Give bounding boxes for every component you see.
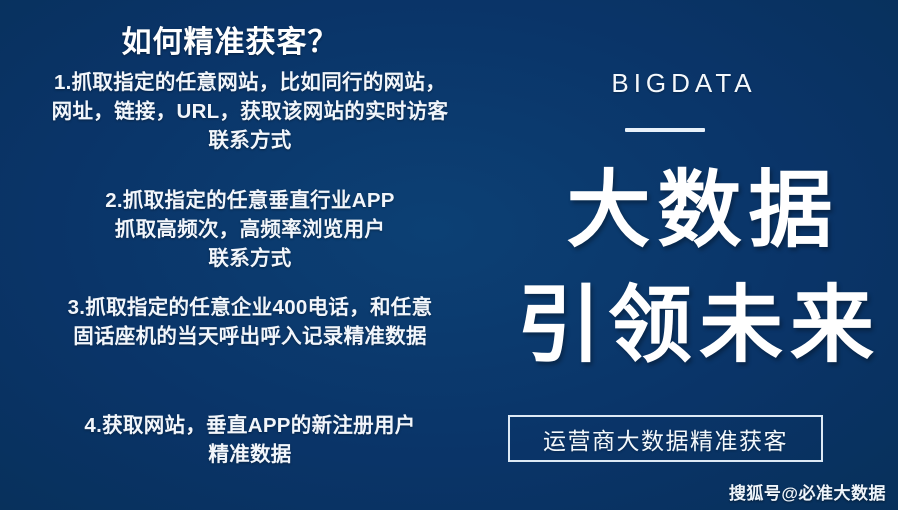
bullet-4-line-2: 精准数据 (0, 440, 500, 469)
bullet-item-4: 4.获取网站，垂直APP的新注册用户 精准数据 (0, 411, 500, 469)
brand-headline-line-2: 引领未来 (500, 283, 898, 367)
poster-canvas: 如何精准获客？ 1.抓取指定的任意网站，比如同行的网站， 网址，链接，URL，获… (0, 0, 898, 510)
bullet-item-2: 2.抓取指定的任意垂直行业APP 抓取高频次，高频率浏览用户 联系方式 (0, 186, 500, 273)
bullet-item-3: 3.抓取指定的任意企业400电话，和任意 固话座机的当天呼出呼入记录精准数据 (0, 293, 500, 351)
tagline-text: 运营商大数据精准获客 (543, 422, 788, 456)
bullet-2-line-1: 2.抓取指定的任意垂直行业APP (0, 186, 500, 215)
left-content-column: 如何精准获客？ 1.抓取指定的任意网站，比如同行的网站， 网址，链接，URL，获… (0, 0, 500, 510)
bullet-1-line-3: 联系方式 (0, 126, 500, 155)
bullet-3-line-1: 3.抓取指定的任意企业400电话，和任意 (0, 293, 500, 322)
page-title: 如何精准获客？ (0, 17, 460, 61)
bullet-2-line-2: 抓取高频次，高频率浏览用户 (0, 215, 500, 244)
bullet-1-line-1: 1.抓取指定的任意网站，比如同行的网站， (0, 68, 500, 97)
divider-rule (625, 128, 705, 132)
bullet-3-line-2: 固话座机的当天呼出呼入记录精准数据 (0, 322, 500, 351)
bullet-4-line-1: 4.获取网站，垂直APP的新注册用户 (0, 411, 500, 440)
watermark-label: 搜狐号@必准大数据 (729, 479, 886, 504)
bullet-1-line-2: 网址，链接，URL，获取该网站的实时访客 (0, 97, 500, 126)
brand-headline-line-1: 大数据 (500, 168, 898, 252)
bullet-item-1: 1.抓取指定的任意网站，比如同行的网站， 网址，链接，URL，获取该网站的实时访… (0, 68, 500, 155)
tagline-box: 运营商大数据精准获客 (508, 415, 823, 462)
brand-english-label: BIGDATA (500, 68, 868, 99)
bullet-2-line-3: 联系方式 (0, 244, 500, 273)
right-brand-column: BIGDATA 大数据 引领未来 运营商大数据精准获客 (500, 0, 898, 510)
